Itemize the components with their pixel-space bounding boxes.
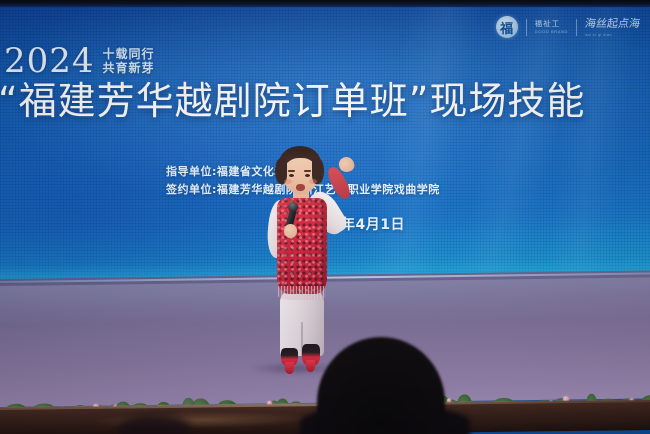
performer-mouth — [296, 184, 305, 191]
calligraphy-brand-en: hai si qi dian — [585, 33, 640, 37]
slogan-line-2: 共育新芽 — [103, 62, 155, 75]
sponsor-logo-row: 福祉工 GOOD BRAND 海丝起点海 hai si qi dian — [496, 16, 640, 38]
calligraphy-brand-logo: 海丝起点海 hai si qi dian — [585, 18, 640, 37]
logo-divider-2 — [576, 19, 577, 36]
stage-performance-photo: 福祉工 GOOD BRAND 海丝起点海 hai si qi dian 2024… — [0, 0, 650, 434]
performer-mic-hand — [284, 224, 297, 238]
performer-cheek-right — [309, 179, 317, 184]
secondary-brand-logo: 福祉工 GOOD BRAND — [535, 20, 568, 34]
foreground-dim-left — [120, 415, 190, 434]
performer-eye-left — [289, 174, 294, 177]
ceiling-dark-band — [0, 0, 650, 7]
performer-cheek-left — [284, 179, 292, 184]
performer-brow-right — [304, 170, 311, 172]
event-slogan: 十载同行 共育新芽 — [103, 48, 155, 78]
event-year: 2024 — [4, 44, 95, 78]
performer-young-girl-singer — [248, 146, 360, 378]
banner-main-title: “福建芳华越剧院订单班”现场技能 — [0, 82, 585, 122]
performer-boot-tassel-right — [306, 360, 315, 372]
performer-brow-left — [288, 170, 295, 172]
performer-sequin-dress — [277, 198, 327, 294]
performer-boot-tassel-left — [285, 362, 294, 374]
secondary-brand-cn: 福祉工 — [535, 20, 568, 28]
calligraphy-brand-cn: 海丝起点海 — [584, 18, 641, 29]
logo-divider — [526, 19, 527, 36]
performer-dress-fringe — [278, 286, 326, 300]
slogan-line-1: 十载同行 — [103, 48, 155, 61]
fu-emblem-logo — [496, 16, 518, 38]
secondary-brand-en: GOOD BRAND — [535, 30, 568, 34]
performer-eye-right — [305, 174, 310, 177]
headline-top-row: 2024 十载同行 共育新芽 — [4, 44, 155, 78]
